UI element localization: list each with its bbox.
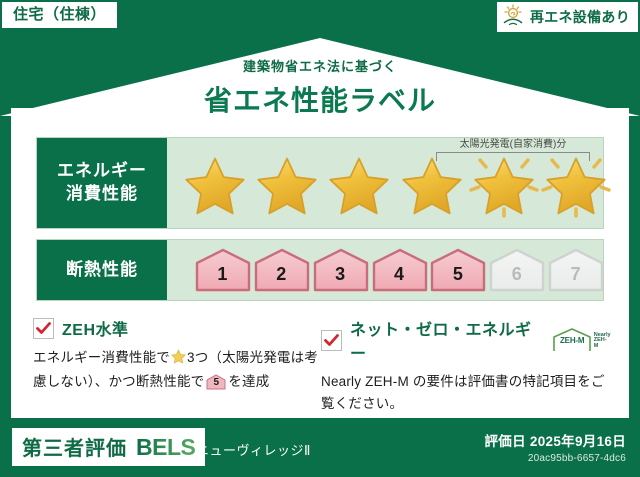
insulation-grade-value: 6 — [512, 264, 522, 292]
insulation-grades-area: 1234567 — [167, 240, 603, 300]
insulation-grade-value: 3 — [335, 264, 345, 292]
insulation-grade-4: 4 — [372, 248, 427, 292]
zeh-standard-description: エネルギー消費性能で 3つ（太陽光発電は考慮しない）、かつ断熱性能で 5 を達成 — [33, 347, 323, 393]
net-zero-energy-block: ネット・ゼロ・エネルギー ZEH-M Nearly ZEH-M Nearly Z… — [321, 316, 611, 415]
insulation-grade-7: 7 — [548, 248, 603, 292]
solar-caption: 太陽光発電(自家消費)分 — [427, 139, 599, 150]
energy-stars-area: 太陽光発電(自家消費)分 — [167, 138, 603, 228]
bels-logo-text: BELS — [136, 434, 195, 461]
insulation-grade-6: 6 — [489, 248, 544, 292]
star-icon — [247, 147, 314, 219]
insulation-grade-value: 5 — [453, 264, 463, 292]
insulation-grade-scale: 1234567 — [167, 240, 603, 300]
insulation-label: 断熱性能 — [66, 259, 138, 282]
renewable-badge-label: 再エネ設備あり — [530, 10, 630, 24]
insulation-grade-5: 5 — [430, 248, 485, 292]
page-subtitle: 建築物省エネ法に基づく — [0, 56, 640, 75]
solar-annotation: 太陽光発電(自家消費)分 — [427, 139, 599, 161]
insulation-grade-value: 7 — [571, 264, 581, 292]
energy-performance-row: エネルギー 消費性能 太陽光発電(自家消費)分 — [36, 137, 604, 229]
zeh-desc-part3: を達成 — [228, 374, 269, 389]
inline-grade-badge: 5 — [206, 374, 226, 390]
star-icon — [175, 147, 242, 219]
evaluation-date: 評価日 2025年9月16日 — [484, 430, 626, 450]
page-title: 省エネ性能ラベル — [0, 79, 640, 119]
zeh-m-logo-text: ZEH-M — [552, 336, 592, 345]
dwelling-type-badge: 住宅（住棟） — [2, 2, 117, 28]
third-party-eval-label: 第三者評価 — [22, 432, 127, 461]
insulation-grade-3: 3 — [313, 248, 368, 292]
net-zero-heading: ネット・ゼロ・エネルギー ZEH-M Nearly ZEH-M — [321, 316, 611, 364]
zeh-desc-part1: エネルギー消費性能で — [33, 350, 170, 365]
energy-label-line1: エネルギー — [57, 160, 147, 183]
energy-performance-label-cell: エネルギー 消費性能 — [37, 138, 167, 228]
zeh-standard-title: ZEH水準 — [62, 316, 129, 340]
zeh-m-logo: ZEH-M Nearly ZEH-M — [552, 327, 611, 353]
zeh-m-sub-line2: ZEH-M — [594, 338, 611, 350]
insulation-grade-value: 1 — [217, 264, 227, 292]
zeh-standard-block: ZEH水準 エネルギー消費性能で 3つ（太陽光発電は考慮しない）、かつ断熱性能で… — [33, 316, 323, 393]
insulation-grade-2: 2 — [254, 248, 309, 292]
evaluation-id: 20ac95bb-6657-4dc6 — [484, 453, 626, 464]
zeh-standard-checkbox — [33, 318, 54, 339]
footer-bar: 第三者評価 BELS ニューヴィレッジⅡ 評価日 2025年9月16日 20ac… — [0, 420, 640, 477]
net-zero-description: Nearly ZEH-M の要件は評価書の特記項目をご覧ください。 — [321, 371, 611, 415]
bels-certification-badge: 第三者評価 BELS — [12, 428, 205, 466]
inline-grade-value: 5 — [206, 374, 226, 390]
evaluation-info: 評価日 2025年9月16日 20ac95bb-6657-4dc6 — [484, 430, 626, 464]
insulation-grade-1: 1 — [195, 248, 250, 292]
renewable-equipment-badge: 再エネ設備あり — [497, 2, 638, 32]
energy-performance-label: 住宅（住棟） 再エネ設備あり 建築物省エネ法に基づく 省エネ性能ラベル — [0, 0, 640, 477]
insulation-grade-value: 4 — [394, 264, 404, 292]
zeh-standard-heading: ZEH水準 — [33, 316, 323, 340]
energy-label-line2: 消費性能 — [66, 183, 138, 206]
solar-bracket — [436, 152, 590, 161]
sun-renewable-icon — [502, 4, 526, 31]
inline-star-icon — [171, 349, 186, 371]
project-name: ニューヴィレッジⅡ — [196, 440, 311, 459]
label-body-card: エネルギー 消費性能 太陽光発電(自家消費)分 断熱性能 1234567 — [11, 108, 629, 418]
star-icon — [319, 147, 386, 219]
insulation-performance-label-cell: 断熱性能 — [37, 240, 167, 300]
net-zero-title: ネット・ゼロ・エネルギー — [350, 316, 540, 364]
insulation-performance-row: 断熱性能 1234567 — [36, 239, 604, 301]
title-block: 建築物省エネ法に基づく 省エネ性能ラベル — [0, 56, 640, 119]
insulation-grade-value: 2 — [276, 264, 286, 292]
net-zero-checkbox — [321, 330, 342, 351]
